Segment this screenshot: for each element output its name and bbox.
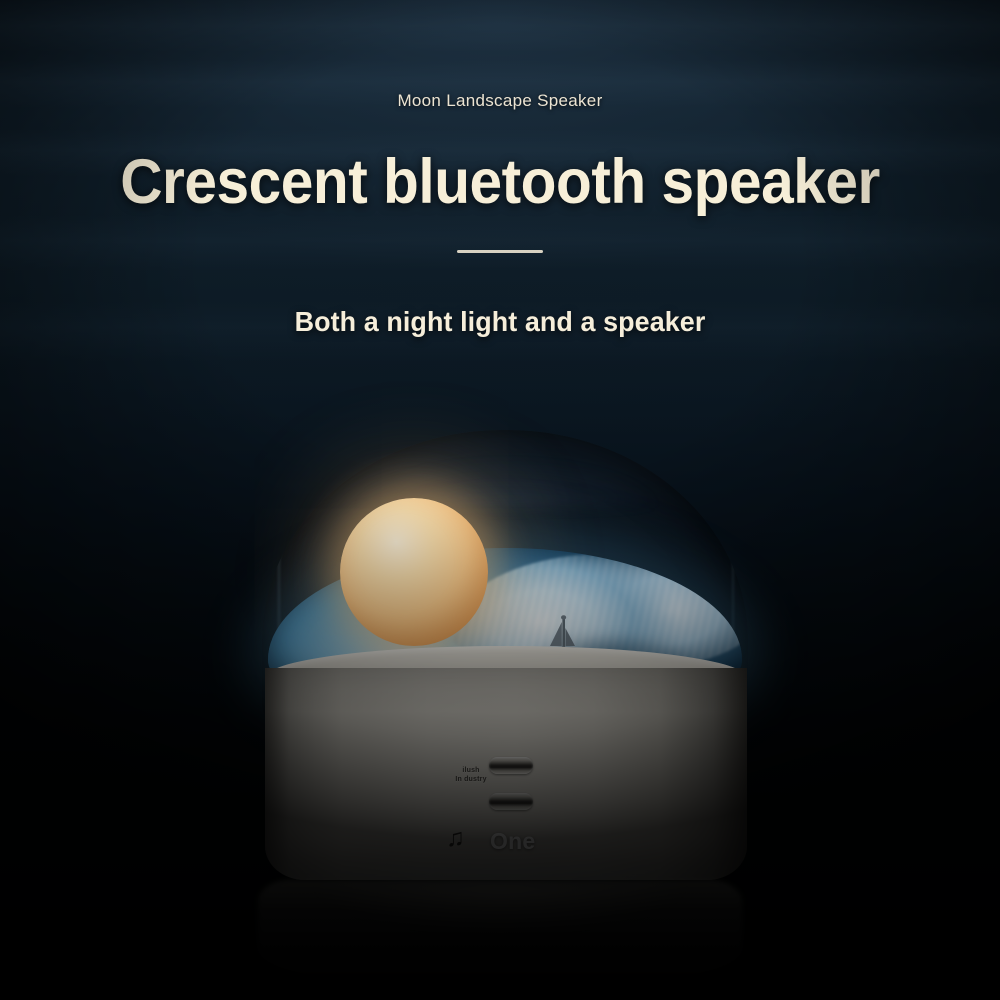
brand-mark-line1: ilush — [440, 767, 502, 776]
tagline-text: Both a night light and a speaker — [20, 306, 980, 338]
brand-mark-line2: In dustry — [440, 776, 502, 785]
base-top-shadow — [265, 668, 747, 712]
eyebrow-text: Moon Landscape Speaker — [0, 91, 1000, 111]
one-label: One — [490, 828, 535, 855]
brand-mark: ilush In dustry — [440, 767, 502, 785]
product-promo-image: Moon Landscape Speaker Crescent bluetoot… — [0, 0, 1000, 1000]
bottom-pill-button[interactable] — [489, 793, 533, 810]
divider-rule — [457, 250, 543, 253]
page-title: Crescent bluetooth speaker — [35, 146, 965, 218]
dome-top-sheen — [322, 438, 692, 508]
music-note-icon: ♫ — [446, 826, 465, 851]
moon-lamp — [340, 498, 488, 646]
reflection-core — [300, 884, 700, 944]
product-illustration: ilush In dustry ♫ One — [240, 430, 770, 900]
